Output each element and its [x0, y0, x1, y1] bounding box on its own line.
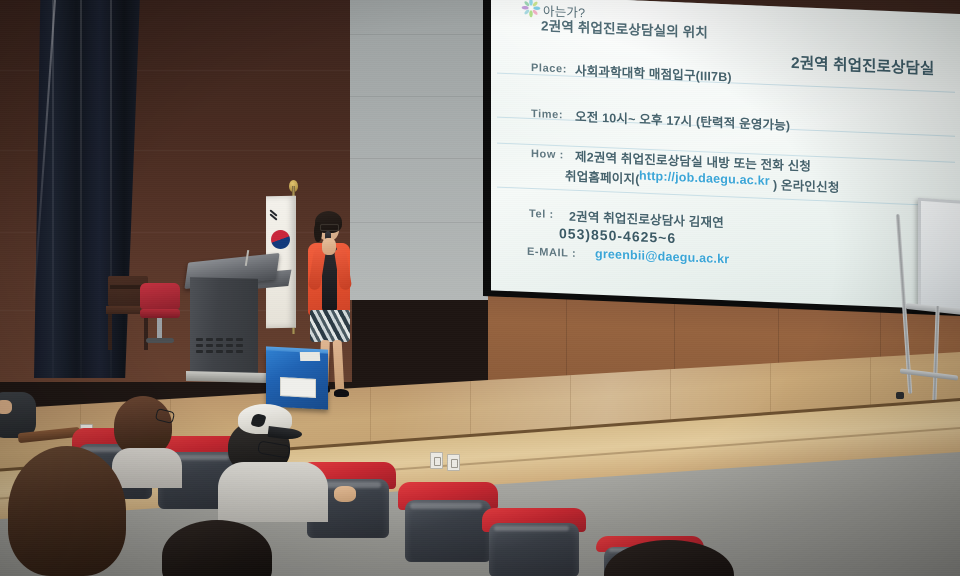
speaker-right-shoe	[334, 389, 349, 397]
slide-place-value: 사회과학대학 매점입구(III7B)	[575, 60, 732, 86]
wall-gray-center	[350, 0, 500, 300]
slide-subtitle: 2권역 취업진로상담실의 위치	[541, 14, 708, 41]
projection-screen: 아는가? 2권역 취업진로상담실의 위치 2권역 취업진로상담실 Place: …	[491, 0, 960, 310]
slide-time-label: Time:	[531, 108, 563, 121]
attendee-with-glasses-hair	[114, 396, 172, 456]
korean-flag-taegeuk-icon	[271, 230, 290, 249]
asterisk-flower-icon	[521, 0, 541, 18]
attendee-with-cap-hand	[334, 486, 356, 502]
attendee-with-cap-shoulder	[218, 462, 328, 522]
wall-outlet-right-a	[430, 452, 443, 469]
photo-scene: 아는가? 2권역 취업진로상담실의 위치 2권역 취업진로상담실 Place: …	[0, 0, 960, 576]
podium-vent-grille	[196, 338, 252, 364]
whiteboard-foot-left	[896, 392, 904, 399]
slide-email-address[interactable]: greenbii@daegu.ac.kr	[595, 247, 729, 267]
slide-tel-label: Tel :	[529, 208, 554, 221]
speaker-skirt	[310, 310, 350, 342]
red-chair	[140, 283, 180, 345]
whiteboard	[918, 198, 960, 315]
podium-base	[186, 371, 266, 383]
blue-box-tag	[300, 352, 320, 361]
attendee-with-glasses-shoulder	[112, 448, 182, 488]
slide-headline: 2권역 취업진로상담실	[791, 51, 934, 79]
attendee-far-left-hand	[0, 400, 12, 414]
wall-outlet-right-b	[447, 454, 460, 471]
slide-email-label: E-MAIL :	[527, 246, 576, 260]
auditorium-seat[interactable]	[482, 508, 586, 576]
slide-how-label: How :	[531, 148, 564, 161]
attendee-left-foreground	[8, 446, 126, 576]
slide-place-label: Place:	[531, 62, 567, 76]
speaker-hands	[322, 238, 336, 255]
white-baseball-cap	[232, 404, 296, 444]
projection-screen-frame: 아는가? 2권역 취업진로상담실의 위치 2권역 취업진로상담실 Place: …	[483, 0, 960, 316]
speaker-glasses-icon	[320, 224, 339, 231]
slide-how-line2-prefix: 취업홈페이지(	[565, 165, 640, 187]
slide-time-value: 오전 10시~ 오후 17시 (탄력적 운영가능)	[575, 106, 790, 134]
blue-box-label	[280, 377, 316, 398]
slide-how-line2-suffix: ) 온라인신청	[773, 174, 840, 196]
